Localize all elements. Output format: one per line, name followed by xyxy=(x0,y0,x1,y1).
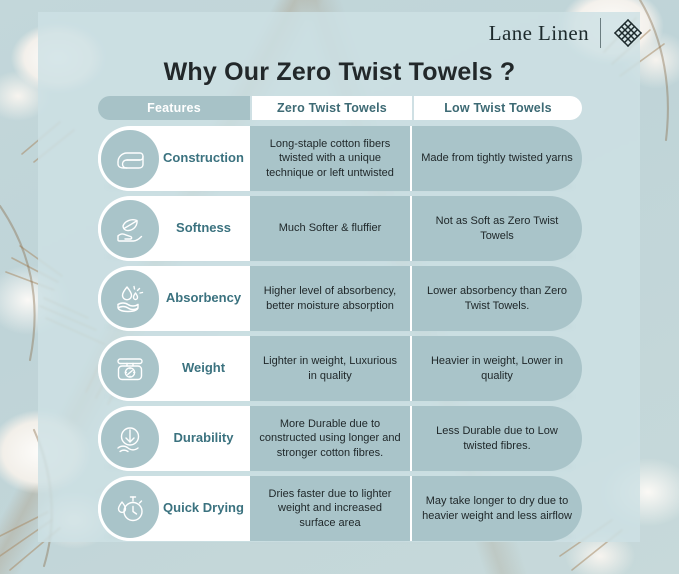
zero-twist-value: Much Softer & fluffier xyxy=(250,196,412,261)
feature-cell: Absorbency xyxy=(98,266,250,331)
low-twist-value: Made from tightly twisted yarns xyxy=(412,126,582,191)
table-row: Absorbency Higher level of absorbency, b… xyxy=(98,266,582,331)
feature-label: Weight xyxy=(159,361,250,376)
comparison-table: Features Zero Twist Towels Low Twist Tow… xyxy=(98,96,582,546)
brand-lockup: Lane Linen xyxy=(489,17,644,49)
table-row: Softness Much Softer & fluffier Not as S… xyxy=(98,196,582,261)
zero-twist-value: Lighter in weight, Luxurious in quality xyxy=(250,336,412,401)
table-row: Durability More Durable due to construct… xyxy=(98,406,582,471)
table-row: Weight Lighter in weight, Luxurious in q… xyxy=(98,336,582,401)
feature-label: Construction xyxy=(159,151,250,166)
woven-diamond-logo-icon xyxy=(612,17,644,49)
zero-twist-value: Long-staple cotton fibers twisted with a… xyxy=(250,126,412,191)
feature-cell: Construction xyxy=(98,126,250,191)
low-twist-value: Not as Soft as Zero Twist Towels xyxy=(412,196,582,261)
brand-divider xyxy=(600,18,601,48)
down-arrow-durability-icon xyxy=(101,410,159,468)
zero-twist-value: More Durable due to constructed using lo… xyxy=(250,406,412,471)
zero-twist-value: Dries faster due to lighter weight and i… xyxy=(250,476,412,541)
column-header-features: Features xyxy=(98,96,250,120)
table-row: Quick Drying Dries faster due to lighter… xyxy=(98,476,582,541)
brand-name: Lane Linen xyxy=(489,21,589,46)
table-row: Construction Long-staple cotton fibers t… xyxy=(98,126,582,191)
table-header-row: Features Zero Twist Towels Low Twist Tow… xyxy=(98,96,582,120)
water-droplet-absorb-icon xyxy=(101,270,159,328)
feature-cell: Weight xyxy=(98,336,250,401)
low-twist-value: Lower absorbency than Zero Twist Towels. xyxy=(412,266,582,331)
feature-label: Durability xyxy=(159,431,250,446)
feature-cell: Durability xyxy=(98,406,250,471)
feature-cell: Softness xyxy=(98,196,250,261)
feature-label: Absorbency xyxy=(159,291,250,306)
feature-label: Quick Drying xyxy=(159,501,250,516)
feature-cell: Quick Drying xyxy=(98,476,250,541)
column-header-low-twist: Low Twist Towels xyxy=(412,96,582,120)
column-header-zero-twist: Zero Twist Towels xyxy=(250,96,412,120)
kitchen-scale-icon xyxy=(101,340,159,398)
feature-label: Softness xyxy=(159,221,250,236)
folded-towel-icon xyxy=(101,130,159,188)
stopwatch-droplet-icon xyxy=(101,480,159,538)
zero-twist-value: Higher level of absorbency, better moist… xyxy=(250,266,412,331)
low-twist-value: Heavier in weight, Lower in quality xyxy=(412,336,582,401)
hand-with-feather-icon xyxy=(101,200,159,258)
page-title: Why Our Zero Twist Towels ? xyxy=(0,58,679,87)
low-twist-value: Less Durable due to Low twisted fibres. xyxy=(412,406,582,471)
low-twist-value: May take longer to dry due to heavier we… xyxy=(412,476,582,541)
